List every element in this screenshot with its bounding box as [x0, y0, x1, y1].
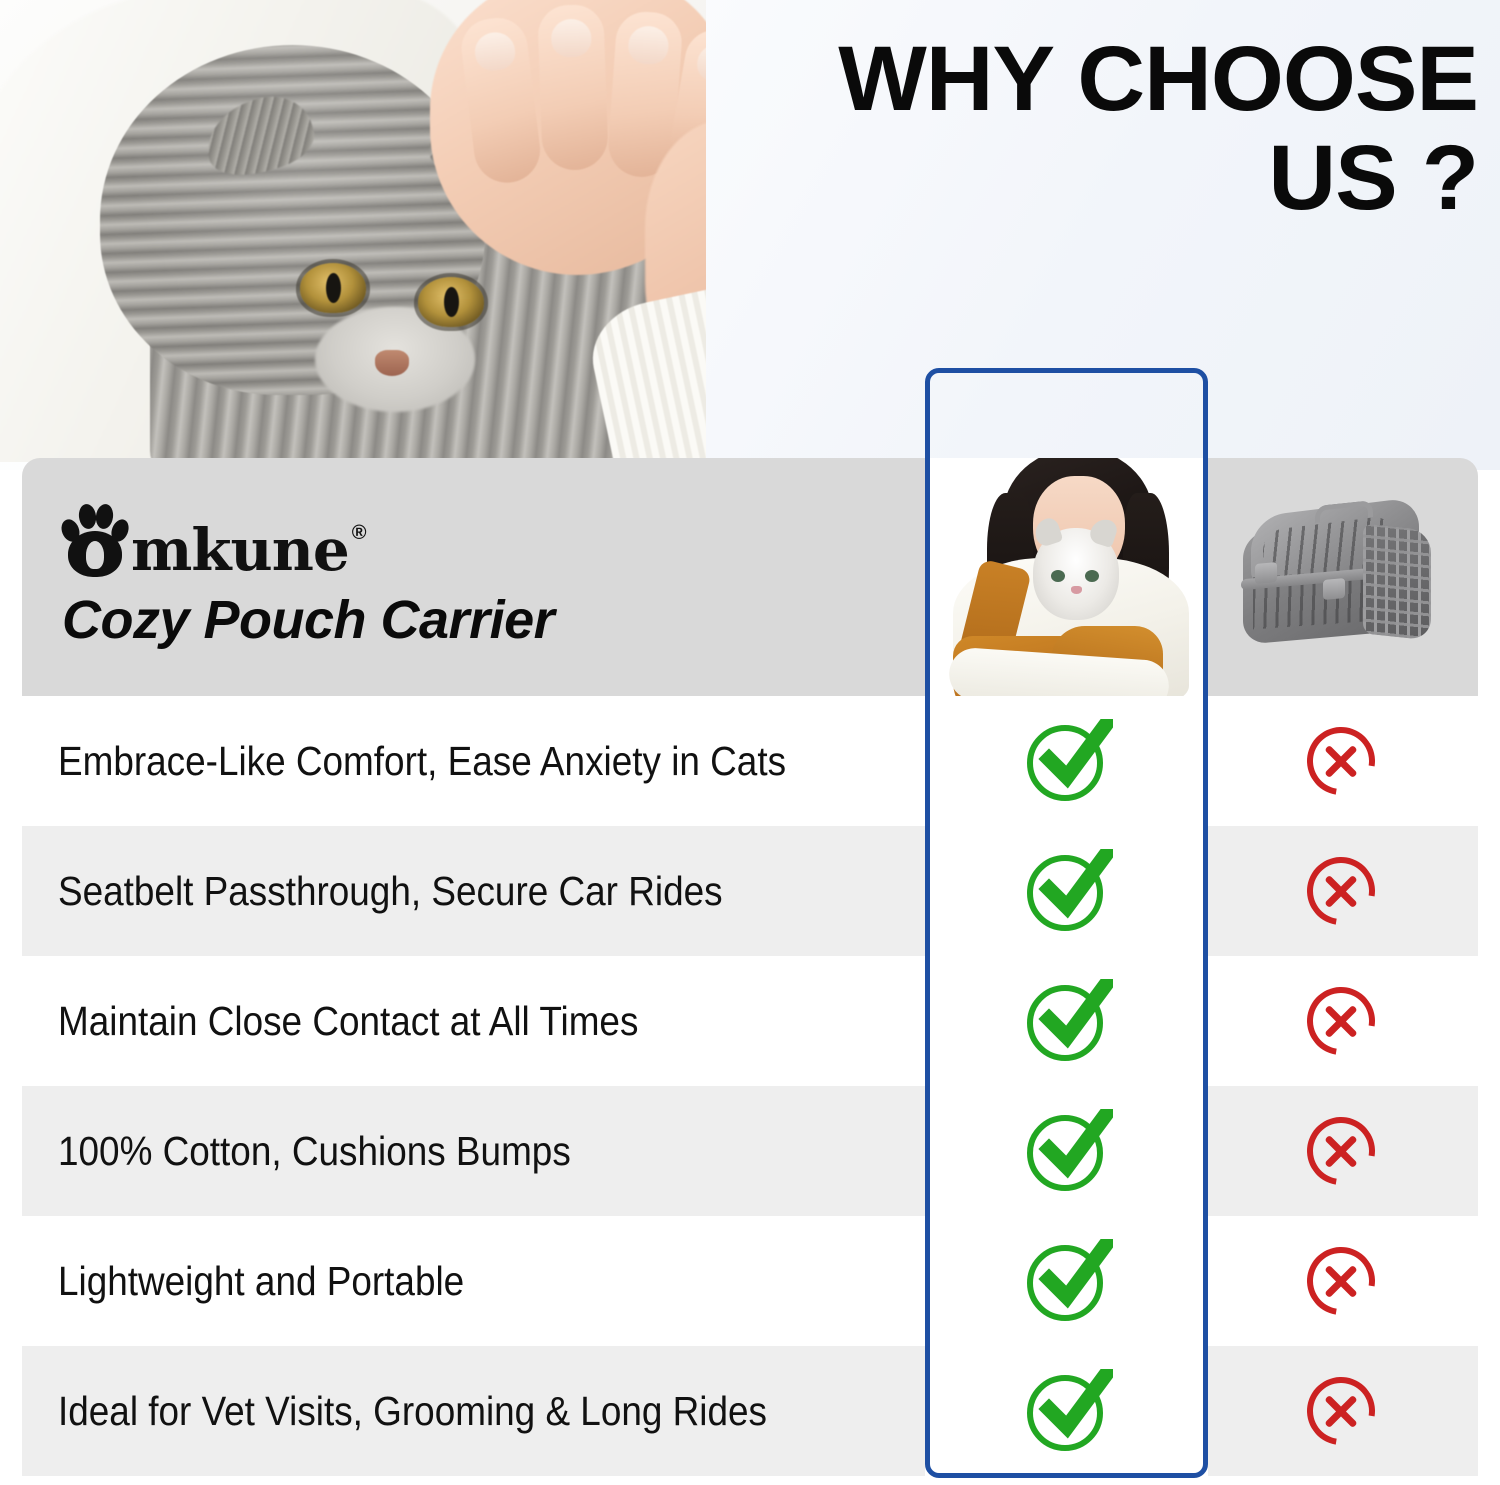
- theirs-product-photo: [1208, 458, 1478, 696]
- ours-value-cell: [925, 826, 1208, 956]
- hero-cat-photo: [0, 0, 706, 462]
- feature-label: Embrace-Like Comfort, Ease Anxiety in Ca…: [58, 738, 786, 785]
- feature-label-cell: Lightweight and Portable: [22, 1216, 925, 1346]
- registered-mark: ®: [352, 522, 367, 545]
- brand-header-cell: mkune ® Cozy Pouch Carrier: [22, 458, 925, 696]
- finger: [537, 4, 609, 171]
- feature-label-cell: Maintain Close Contact at All Times: [22, 956, 925, 1086]
- table-row: Embrace-Like Comfort, Ease Anxiety in Ca…: [22, 696, 1478, 826]
- table-header-row: mkune ® Cozy Pouch Carrier: [22, 458, 1478, 696]
- table-row: Maintain Close Contact at All Times: [22, 956, 1478, 1086]
- ours-product-photo: [925, 458, 1208, 696]
- comparison-table: mkune ® Cozy Pouch Carrier: [22, 458, 1478, 1480]
- ours-value-cell: [925, 956, 1208, 1086]
- feature-label-cell: 100% Cotton, Cushions Bumps: [22, 1086, 925, 1216]
- table-row: Seatbelt Passthrough, Secure Car Rides: [22, 826, 1478, 956]
- hero-banner: WHY CHOOSE US ?: [0, 0, 1500, 470]
- table-row: Lightweight and Portable: [22, 1216, 1478, 1346]
- theirs-value-cell: [1208, 696, 1478, 826]
- cat-nose: [375, 350, 409, 376]
- pet-crate-illustration: [1237, 497, 1449, 657]
- feature-label-cell: Embrace-Like Comfort, Ease Anxiety in Ca…: [22, 696, 925, 826]
- product-name: Cozy Pouch Carrier: [62, 589, 554, 651]
- ours-header-cell: [925, 458, 1208, 696]
- feature-label: 100% Cotton, Cushions Bumps: [58, 1128, 571, 1175]
- table-row: 100% Cotton, Cushions Bumps: [22, 1086, 1478, 1216]
- red-x-circle-icon: [1297, 1235, 1389, 1327]
- green-check-circle-icon: [1021, 1105, 1113, 1197]
- theirs-value-cell: [1208, 826, 1478, 956]
- ours-value-cell: [925, 1216, 1208, 1346]
- feature-label: Maintain Close Contact at All Times: [58, 998, 638, 1045]
- red-x-circle-icon: [1297, 1365, 1389, 1457]
- table-row: Ideal for Vet Visits, Grooming & Long Ri…: [22, 1346, 1478, 1476]
- feature-label-cell: Seatbelt Passthrough, Secure Car Rides: [22, 826, 925, 956]
- cat-eye-right: [418, 277, 484, 327]
- cat-eye-left: [300, 263, 366, 313]
- green-check-circle-icon: [1021, 845, 1113, 937]
- carried-cat: [1033, 528, 1119, 620]
- green-check-circle-icon: [1021, 975, 1113, 1067]
- ours-value-cell: [925, 1086, 1208, 1216]
- red-x-circle-icon: [1297, 975, 1389, 1067]
- brand-logo: mkune ®: [62, 503, 367, 577]
- red-x-circle-icon: [1297, 845, 1389, 937]
- title-line-2: US ?: [682, 129, 1478, 228]
- feature-label-cell: Ideal for Vet Visits, Grooming & Long Ri…: [22, 1346, 925, 1476]
- green-check-circle-icon: [1021, 715, 1113, 807]
- title-line-1: WHY CHOOSE: [682, 30, 1478, 129]
- feature-label: Ideal for Vet Visits, Grooming & Long Ri…: [58, 1388, 767, 1435]
- theirs-value-cell: [1208, 1216, 1478, 1346]
- feature-label: Seatbelt Passthrough, Secure Car Rides: [58, 868, 723, 915]
- feature-label: Lightweight and Portable: [58, 1258, 464, 1305]
- page-title: WHY CHOOSE US ?: [698, 30, 1478, 229]
- theirs-header-cell: [1208, 458, 1478, 696]
- theirs-value-cell: [1208, 1086, 1478, 1216]
- paw-print-icon: [62, 503, 128, 577]
- cat-ear-left: [197, 87, 321, 186]
- ours-value-cell: [925, 696, 1208, 826]
- cat-head-shape: [100, 45, 485, 395]
- brand-name: mkune: [131, 524, 349, 577]
- theirs-value-cell: [1208, 1346, 1478, 1476]
- green-check-circle-icon: [1021, 1235, 1113, 1327]
- ours-value-cell: [925, 1346, 1208, 1476]
- red-x-circle-icon: [1297, 1105, 1389, 1197]
- theirs-value-cell: [1208, 956, 1478, 1086]
- red-x-circle-icon: [1297, 715, 1389, 807]
- green-check-circle-icon: [1021, 1365, 1113, 1457]
